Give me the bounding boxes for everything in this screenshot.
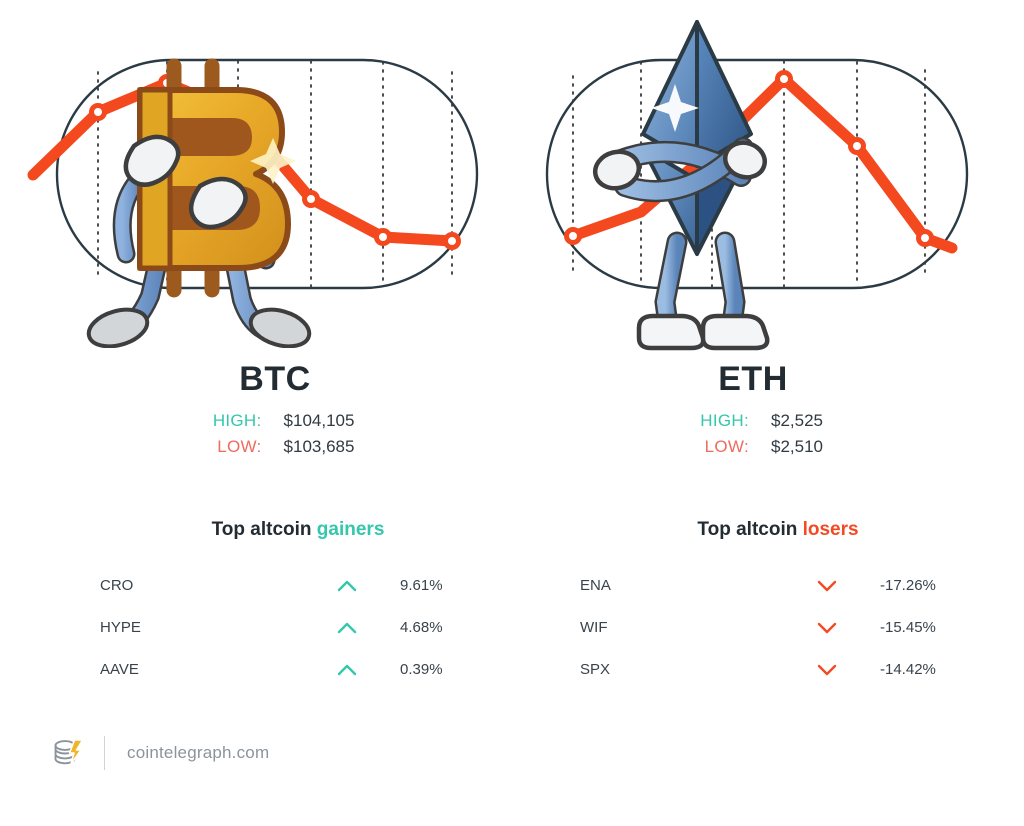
btc-summary: BTC HIGH: $104,105 LOW: $103,685 xyxy=(35,362,515,459)
btc-price-rows: HIGH: $104,105 LOW: $103,685 xyxy=(196,408,355,459)
gainer-ticker: AAVE xyxy=(88,661,318,678)
gainer-percent: 0.39% xyxy=(376,661,508,678)
btc-chart-pill-outline xyxy=(57,60,477,288)
loser-percent: -17.26% xyxy=(856,577,988,594)
eth-price-rows: HIGH: $2,525 LOW: $2,510 xyxy=(683,408,823,459)
chevron-down-icon xyxy=(798,663,856,676)
gainer-row[interactable]: HYPE 4.68% xyxy=(88,606,508,648)
chevron-down-icon xyxy=(798,579,856,592)
loser-ticker: WIF xyxy=(568,619,798,636)
gainers-title-accent: gainers xyxy=(317,519,385,540)
loser-row[interactable]: SPX -14.42% xyxy=(568,648,988,690)
loser-ticker: SPX xyxy=(568,661,798,678)
footer-divider xyxy=(104,736,105,770)
eth-high-row: HIGH: $2,525 xyxy=(683,408,823,434)
btc-chart-card xyxy=(10,0,490,360)
top-altcoin-losers-panel: Top altcoin losers ENA -17.26% WIF -15.4… xyxy=(568,520,988,690)
crypto-market-summary-card: BTC HIGH: $104,105 LOW: $103,685 ETH HIG… xyxy=(0,0,1024,826)
gainer-ticker: HYPE xyxy=(88,619,318,636)
charts-row xyxy=(0,0,1024,360)
btc-low-value: $103,685 xyxy=(262,434,355,460)
btc-low-label: LOW: xyxy=(196,434,262,460)
losers-title-accent: losers xyxy=(803,519,859,540)
gainers-title: Top altcoin gainers xyxy=(88,520,508,539)
loser-row[interactable]: ENA -17.26% xyxy=(568,564,988,606)
eth-chart-pill-outline xyxy=(547,60,967,288)
eth-low-label: LOW: xyxy=(683,434,749,460)
eth-low-row: LOW: $2,510 xyxy=(683,434,823,460)
gainer-ticker: CRO xyxy=(88,577,318,594)
loser-percent: -15.45% xyxy=(856,619,988,636)
gainer-percent: 4.68% xyxy=(376,619,508,636)
loser-percent: -14.42% xyxy=(856,661,988,678)
top-altcoin-gainers-panel: Top altcoin gainers CRO 9.61% HYPE 4.68%… xyxy=(88,520,508,690)
chevron-up-icon xyxy=(318,621,376,634)
altcoin-panels: Top altcoin gainers CRO 9.61% HYPE 4.68%… xyxy=(0,520,1024,700)
btc-high-label: HIGH: xyxy=(196,408,262,434)
eth-high-label: HIGH: xyxy=(683,408,749,434)
btc-high-row: HIGH: $104,105 xyxy=(196,408,355,434)
losers-title: Top altcoin losers xyxy=(568,520,988,539)
chevron-up-icon xyxy=(318,663,376,676)
chevron-down-icon xyxy=(798,621,856,634)
footer-brand: cointelegraph.com xyxy=(127,743,269,763)
loser-row[interactable]: WIF -15.45% xyxy=(568,606,988,648)
eth-chart-card xyxy=(500,0,980,360)
loser-ticker: ENA xyxy=(568,577,798,594)
eth-summary: ETH HIGH: $2,525 LOW: $2,510 xyxy=(513,362,993,459)
chevron-up-icon xyxy=(318,579,376,592)
btc-symbol-title: BTC xyxy=(35,362,515,396)
gainer-row[interactable]: CRO 9.61% xyxy=(88,564,508,606)
gainers-title-prefix: Top altcoin xyxy=(212,519,317,540)
gainer-row[interactable]: AAVE 0.39% xyxy=(88,648,508,690)
btc-low-row: LOW: $103,685 xyxy=(196,434,355,460)
losers-title-prefix: Top altcoin xyxy=(697,519,802,540)
eth-high-value: $2,525 xyxy=(749,408,823,434)
btc-price-sparkline xyxy=(10,0,490,360)
cointelegraph-coin-stack-bolt-icon xyxy=(48,733,88,773)
btc-high-value: $104,105 xyxy=(262,408,355,434)
eth-low-value: $2,510 xyxy=(749,434,823,460)
gainer-percent: 9.61% xyxy=(376,577,508,594)
eth-symbol-title: ETH xyxy=(513,362,993,396)
eth-price-sparkline xyxy=(500,0,980,360)
footer: cointelegraph.com xyxy=(48,728,269,778)
